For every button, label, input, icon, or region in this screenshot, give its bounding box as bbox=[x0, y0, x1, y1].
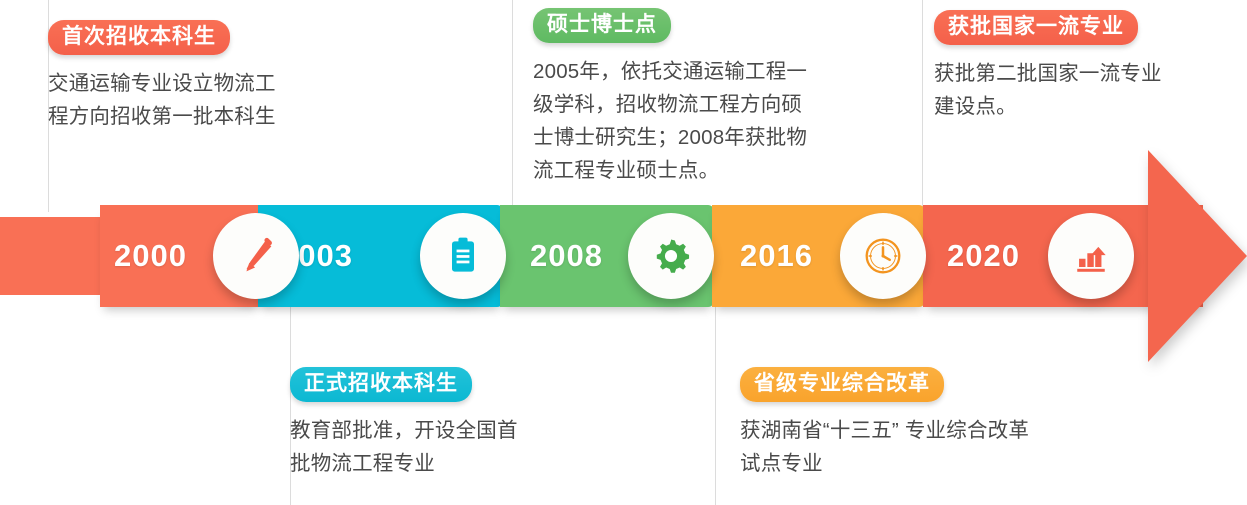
milestone-badge-2008: 硕士博士点 bbox=[533, 8, 671, 43]
year-label-2020: 2020 bbox=[947, 238, 1020, 274]
icon-circle-2020[interactable] bbox=[1048, 213, 1134, 299]
milestone-text-2020: 获批第二批国家一流专业 建设点。 bbox=[934, 57, 1224, 123]
clock-icon bbox=[860, 233, 906, 279]
icon-circle-2008[interactable] bbox=[628, 213, 714, 299]
icon-circle-2000[interactable] bbox=[213, 213, 299, 299]
clipboard-icon bbox=[441, 234, 485, 278]
milestone-text-2000: 交通运输专业设立物流工 程方向招收第一批本科生 bbox=[48, 67, 328, 133]
milestone-badge-2003: 正式招收本科生 bbox=[290, 367, 472, 402]
gear-icon bbox=[649, 234, 693, 278]
milestone-card-2016[interactable]: 省级专业综合改革 获湖南省“十三五” 专业综合改革 试点专业 bbox=[740, 367, 1140, 480]
arrow-tail bbox=[0, 217, 110, 295]
milestone-card-2008[interactable]: 硕士博士点 2005年，依托交通运输工程一 级学科，招收物流工程方向硕 士博士研… bbox=[533, 8, 893, 187]
bar-chart-growth-icon bbox=[1069, 234, 1113, 278]
milestone-badge-2020: 获批国家一流专业 bbox=[934, 10, 1138, 45]
milestone-badge-2016: 省级专业综合改革 bbox=[740, 367, 944, 402]
year-label-2016: 2016 bbox=[740, 238, 813, 274]
milestone-card-2020[interactable]: 获批国家一流专业 获批第二批国家一流专业 建设点。 bbox=[934, 10, 1224, 123]
connector-line-2008 bbox=[512, 0, 513, 212]
timeline-arrow-band: 2000 2003 2008 2016 2020 bbox=[0, 205, 1203, 307]
milestone-badge-2000: 首次招收本科生 bbox=[48, 20, 230, 55]
milestone-card-2003[interactable]: 正式招收本科生 教育部批准，开设全国首 批物流工程专业 bbox=[290, 367, 590, 480]
year-label-2008: 2008 bbox=[530, 238, 603, 274]
milestone-text-2008: 2005年，依托交通运输工程一 级学科，招收物流工程方向硕 士博士研究生；200… bbox=[533, 55, 893, 187]
arrow-head bbox=[1148, 150, 1247, 362]
milestone-text-2003: 教育部批准，开设全国首 批物流工程专业 bbox=[290, 414, 590, 480]
year-label-2000: 2000 bbox=[114, 238, 187, 274]
connector-line-2016 bbox=[715, 305, 716, 505]
connector-line-2020 bbox=[922, 0, 923, 212]
icon-circle-2016[interactable] bbox=[840, 213, 926, 299]
milestone-card-2000[interactable]: 首次招收本科生 交通运输专业设立物流工 程方向招收第一批本科生 bbox=[48, 20, 328, 133]
icon-circle-2003[interactable] bbox=[420, 213, 506, 299]
milestone-text-2016: 获湖南省“十三五” 专业综合改革 试点专业 bbox=[740, 414, 1140, 480]
pen-nib-icon bbox=[233, 233, 279, 279]
timeline-infographic: 首次招收本科生 交通运输专业设立物流工 程方向招收第一批本科生 硕士博士点 20… bbox=[0, 0, 1247, 505]
